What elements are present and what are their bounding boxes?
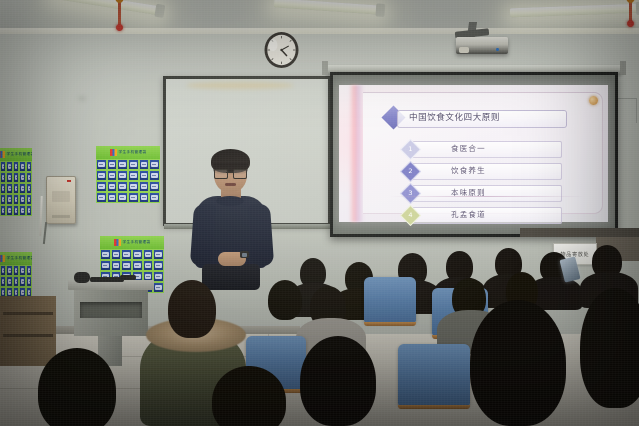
pocket-number-tag bbox=[113, 263, 120, 268]
chair-back bbox=[364, 277, 416, 323]
pocket-number-tag bbox=[15, 208, 17, 213]
phone-pocket bbox=[149, 181, 160, 192]
pocket-number-tag bbox=[2, 175, 4, 180]
pocket-number-tag bbox=[2, 208, 4, 213]
phone-pocket bbox=[26, 183, 32, 194]
phone-pocket bbox=[132, 249, 143, 260]
lecturer-arm-right bbox=[248, 203, 274, 266]
pocket-number-tag bbox=[145, 274, 152, 279]
phone-pocket bbox=[143, 249, 154, 260]
projector-lens-icon bbox=[459, 47, 469, 53]
pocket-number-tag bbox=[2, 279, 4, 284]
glasses-icon bbox=[214, 169, 247, 177]
phone-pocket bbox=[139, 159, 150, 170]
pocket-number-tag bbox=[15, 268, 17, 273]
phone-pocket bbox=[107, 170, 118, 181]
phone-pocket bbox=[26, 194, 32, 205]
pocket-number-tag bbox=[28, 208, 30, 213]
projected-slide: 中国饮食文化四大原则 1 食医合一 2 饮食养生 bbox=[339, 85, 608, 222]
pocket-number-tag bbox=[2, 197, 4, 202]
phone-pocket bbox=[111, 260, 122, 271]
pocket-number-tag bbox=[119, 173, 126, 178]
door-header-band bbox=[520, 228, 639, 237]
pocket-chart-header-text: 学生手机管理袋 bbox=[119, 150, 147, 155]
projection-screen: 中国饮食文化四大原则 1 食医合一 2 饮食养生 bbox=[330, 72, 618, 237]
slide-bullet-pill bbox=[412, 163, 562, 180]
pocket-number-tag bbox=[21, 175, 23, 180]
pocket-number-tag bbox=[113, 252, 120, 257]
pocket-chart-header: 学生手机管理袋 bbox=[0, 252, 32, 265]
phone-pocket bbox=[153, 249, 164, 260]
pocket-number-tag bbox=[21, 208, 23, 213]
phone-pocket bbox=[96, 170, 107, 181]
device-panel bbox=[52, 191, 70, 202]
pocket-number-tag bbox=[145, 263, 152, 268]
pocket-number-tag bbox=[119, 162, 126, 167]
pocket-number-tag bbox=[21, 268, 23, 273]
phone-pocket bbox=[26, 172, 32, 183]
slide-bullet-pill bbox=[412, 141, 562, 158]
phone-pocket bbox=[117, 181, 128, 192]
pocket-grid bbox=[0, 161, 32, 216]
slide-bullet-2: 2 饮食养生 bbox=[403, 163, 561, 178]
phone-pocket bbox=[143, 260, 154, 271]
pocket-number-tag bbox=[15, 197, 17, 202]
phone-pocket bbox=[132, 260, 143, 271]
whiteboard-glare bbox=[186, 82, 294, 89]
phone-pocket bbox=[107, 192, 118, 203]
phone-pocket bbox=[153, 282, 164, 293]
lectern-shelf bbox=[80, 302, 142, 318]
pocket-number-tag bbox=[123, 263, 130, 268]
chair-back bbox=[398, 344, 470, 406]
slide-title: 中国饮食文化四大原则 bbox=[409, 111, 500, 123]
pocket-number-tag bbox=[15, 290, 17, 295]
pocket-number-tag bbox=[28, 186, 30, 191]
pocket-number-tag bbox=[15, 186, 17, 191]
slide-bullet-label: 饮食养生 bbox=[451, 165, 486, 176]
slide-bullet-number: 2 bbox=[404, 165, 417, 178]
slide-bullet-number: 3 bbox=[404, 187, 417, 200]
phone-pocket bbox=[153, 260, 164, 271]
pocket-number-tag bbox=[151, 162, 158, 167]
phone-pocket bbox=[121, 249, 132, 260]
lecturer-collar bbox=[216, 196, 244, 206]
school-logo-icon bbox=[0, 255, 5, 262]
pocket-number-tag bbox=[130, 195, 137, 200]
hanging-ornament-left-icon bbox=[118, 0, 121, 26]
school-logo-icon bbox=[0, 151, 5, 158]
pocket-number-tag bbox=[2, 268, 4, 273]
slide-bullet-number: 1 bbox=[404, 143, 417, 156]
audience-head-foreground bbox=[300, 336, 376, 426]
lecturer-arm-left bbox=[190, 203, 216, 266]
phone-pocket bbox=[96, 159, 107, 170]
wristwatch-icon bbox=[240, 251, 249, 258]
audience-head-foreground bbox=[38, 348, 116, 426]
pocket-number-tag bbox=[21, 279, 23, 284]
slide-bullet-4: 4 孔孟食道 bbox=[403, 207, 561, 222]
phone-pocket bbox=[139, 181, 150, 192]
phone-pocket bbox=[111, 249, 122, 260]
pocket-number-tag bbox=[28, 175, 30, 180]
phone-pocket bbox=[107, 181, 118, 192]
pocket-number-tag bbox=[21, 197, 23, 202]
pocket-number-tag bbox=[151, 195, 158, 200]
pocket-number-tag bbox=[109, 184, 116, 189]
lecturer bbox=[192, 152, 272, 282]
pocket-number-tag bbox=[8, 279, 10, 284]
pocket-number-tag bbox=[141, 184, 148, 189]
phone-pocket bbox=[117, 170, 128, 181]
screen-surface: 中国饮食文化四大原则 1 食医合一 2 饮食养生 bbox=[333, 75, 615, 234]
pocket-number-tag bbox=[130, 173, 137, 178]
phone-pocket bbox=[100, 260, 111, 271]
phone-pocket bbox=[149, 170, 160, 181]
side-cabinet bbox=[0, 296, 56, 366]
pocket-number-tag bbox=[141, 173, 148, 178]
pocket-number-tag bbox=[155, 274, 162, 279]
projector-led-icon bbox=[496, 48, 499, 51]
phone-pocket bbox=[139, 170, 150, 181]
phone-pocket bbox=[26, 205, 32, 216]
pocket-number-tag bbox=[2, 164, 4, 169]
pocket-number-tag bbox=[151, 184, 158, 189]
phone-pocket bbox=[121, 260, 132, 271]
lectern-items bbox=[74, 272, 136, 284]
school-logo-icon bbox=[110, 149, 117, 156]
pocket-number-tag bbox=[28, 268, 30, 273]
status-led-icon bbox=[67, 180, 71, 182]
pocket-number-tag bbox=[141, 162, 148, 167]
slide-bullet-number: 4 bbox=[404, 209, 417, 222]
pocket-number-tag bbox=[8, 268, 10, 273]
pocket-number-tag bbox=[134, 252, 141, 257]
phone-pocket bbox=[128, 181, 139, 192]
slide-bullet-label: 孔孟食道 bbox=[451, 209, 486, 220]
phone-pocket bbox=[149, 192, 160, 203]
pocket-grid bbox=[96, 159, 160, 203]
device-label bbox=[52, 215, 70, 218]
phone-pocket bbox=[128, 159, 139, 170]
pocket-number-tag bbox=[2, 290, 4, 295]
phone-pocket bbox=[107, 159, 118, 170]
slide-baseline bbox=[389, 196, 584, 197]
school-logo-icon bbox=[114, 239, 121, 246]
classroom-photo: 中国饮食文化四大原则 1 食医合一 2 饮食养生 bbox=[0, 0, 639, 426]
pocket-number-tag bbox=[119, 195, 126, 200]
pocket-number-tag bbox=[109, 195, 116, 200]
phone-pocket bbox=[26, 276, 32, 287]
pocket-number-tag bbox=[15, 175, 17, 180]
pocket-number-tag bbox=[119, 184, 126, 189]
wall-clock-icon bbox=[263, 31, 300, 69]
pocket-number-tag bbox=[123, 252, 130, 257]
phone-pocket bbox=[149, 159, 160, 170]
pocket-number-tag bbox=[15, 164, 17, 169]
wall-mark bbox=[78, 96, 86, 101]
pocket-number-tag bbox=[102, 252, 109, 257]
pocket-number-tag bbox=[21, 164, 23, 169]
slide-bullet-3: 3 本味原则 bbox=[403, 185, 561, 200]
pocket-number-tag bbox=[155, 285, 162, 290]
pocket-number-tag bbox=[155, 263, 162, 268]
pocket-number-tag bbox=[130, 184, 137, 189]
slide-title-row: 中国饮食文化四大原则 bbox=[385, 109, 565, 131]
hanging-ornament-right-icon bbox=[629, 0, 632, 22]
lecturer-mouth bbox=[225, 183, 236, 186]
pocket-number-tag bbox=[98, 162, 105, 167]
pocket-number-tag bbox=[8, 175, 10, 180]
phone-pocket bbox=[96, 192, 107, 203]
ceiling-projector-icon[interactable] bbox=[456, 37, 508, 54]
slide-bullet-pill bbox=[412, 207, 562, 224]
pocket-number-tag bbox=[21, 290, 23, 295]
phone-pocket bbox=[128, 192, 139, 203]
pocket-number-tag bbox=[8, 197, 10, 202]
pocket-chart-header-text: 学生手机管理袋 bbox=[123, 240, 151, 245]
phone-pocket bbox=[117, 159, 128, 170]
slide-card: 中国饮食文化四大原则 1 食医合一 2 饮食养生 bbox=[363, 92, 603, 214]
slide-bullet-1: 1 食医合一 bbox=[403, 141, 561, 156]
pocket-number-tag bbox=[151, 173, 158, 178]
pocket-number-tag bbox=[109, 173, 116, 178]
pocket-number-tag bbox=[8, 290, 10, 295]
pocket-number-tag bbox=[28, 164, 30, 169]
slide-bullet-pill bbox=[412, 185, 562, 202]
audience-head-foreground bbox=[212, 366, 286, 426]
pocket-number-tag bbox=[15, 279, 17, 284]
phone-pocket bbox=[96, 181, 107, 192]
pocket-chart-header-text: 学生手机管理袋 bbox=[7, 256, 32, 261]
pocket-number-tag bbox=[28, 279, 30, 284]
pocket-number-tag bbox=[8, 208, 10, 213]
pocket-chart-right-upper: 学生手机管理袋 bbox=[96, 146, 160, 203]
slide-scroll-edge bbox=[349, 85, 364, 222]
slide-bullet-label: 食医合一 bbox=[451, 143, 486, 154]
phone-pocket bbox=[153, 271, 164, 282]
pocket-chart-header: 学生手机管理袋 bbox=[100, 236, 164, 249]
phone-pocket bbox=[26, 161, 32, 172]
audience-head-foreground bbox=[580, 288, 639, 408]
pocket-number-tag bbox=[98, 184, 105, 189]
pocket-number-tag bbox=[2, 186, 4, 191]
pocket-number-tag bbox=[102, 263, 109, 268]
pocket-chart-header-text: 学生手机管理袋 bbox=[7, 152, 32, 157]
phone-pocket bbox=[100, 249, 111, 260]
pocket-chart-header: 学生手机管理袋 bbox=[96, 146, 160, 159]
pocket-number-tag bbox=[109, 162, 116, 167]
pocket-number-tag bbox=[98, 195, 105, 200]
pocket-number-tag bbox=[130, 162, 137, 167]
pocket-number-tag bbox=[145, 252, 152, 257]
audience-head bbox=[168, 280, 216, 338]
phone-pocket bbox=[128, 170, 139, 181]
pocket-number-tag bbox=[8, 164, 10, 169]
slide-seal-icon bbox=[589, 96, 598, 105]
phone-pocket bbox=[117, 192, 128, 203]
pocket-number-tag bbox=[21, 186, 23, 191]
pocket-number-tag bbox=[98, 173, 105, 178]
pocket-number-tag bbox=[28, 197, 30, 202]
pocket-number-tag bbox=[134, 263, 141, 268]
pocket-chart-header: 学生手机管理袋 bbox=[0, 148, 32, 161]
wall-control-box[interactable] bbox=[46, 176, 76, 224]
pocket-number-tag bbox=[8, 186, 10, 191]
audience-head bbox=[268, 280, 302, 320]
pocket-chart-left-upper: 学生手机管理袋 bbox=[0, 148, 32, 216]
pocket-number-tag bbox=[141, 195, 148, 200]
pocket-number-tag bbox=[155, 252, 162, 257]
phone-pocket bbox=[139, 192, 150, 203]
phone-pocket bbox=[26, 265, 32, 276]
lecturer-legs bbox=[202, 264, 260, 290]
audience-head-foreground bbox=[470, 300, 566, 426]
pocket-number-tag bbox=[28, 290, 30, 295]
